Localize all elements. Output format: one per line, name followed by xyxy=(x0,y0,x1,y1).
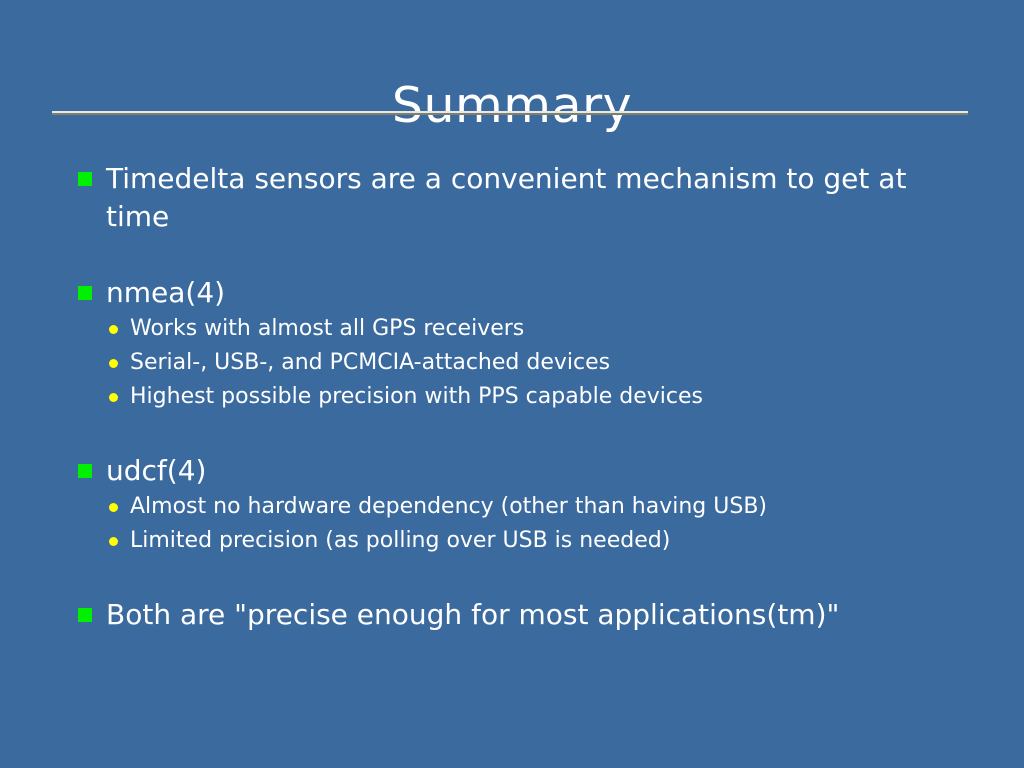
title-divider xyxy=(52,111,968,115)
square-bullet-icon xyxy=(78,608,92,622)
square-bullet-icon xyxy=(78,172,92,186)
bullet-level1: Timedelta sensors are a convenient mecha… xyxy=(0,160,1024,236)
bullet-block: nmea(4) Works with almost all GPS receiv… xyxy=(0,274,1024,414)
bullet-level2-label: Highest possible precision with PPS capa… xyxy=(130,380,1024,414)
dot-bullet-icon xyxy=(109,393,118,402)
bullet-level2-label: Works with almost all GPS receivers xyxy=(130,312,1024,346)
bullet-level2-label: Almost no hardware dependency (other tha… xyxy=(130,490,1024,524)
bullet-level2-label: Serial-, USB-, and PCMCIA-attached devic… xyxy=(130,346,1024,380)
page-title: Summary xyxy=(392,77,632,135)
bullet-level2: Limited precision (as polling over USB i… xyxy=(0,524,1024,558)
dot-bullet-icon xyxy=(109,503,118,512)
bullet-level2: Highest possible precision with PPS capa… xyxy=(0,380,1024,414)
bullet-block: Timedelta sensors are a convenient mecha… xyxy=(0,160,1024,236)
dot-bullet-icon xyxy=(109,359,118,368)
bullet-level1-label: Both are "precise enough for most applic… xyxy=(106,596,942,634)
slide-body: Timedelta sensors are a convenient mecha… xyxy=(0,160,1024,634)
bullet-level1-label: Timedelta sensors are a convenient mecha… xyxy=(106,160,942,236)
bullet-level2: Serial-, USB-, and PCMCIA-attached devic… xyxy=(0,346,1024,380)
square-bullet-icon xyxy=(78,464,92,478)
bullet-block: Both are "precise enough for most applic… xyxy=(0,596,1024,634)
bullet-level2: Almost no hardware dependency (other tha… xyxy=(0,490,1024,524)
spacer xyxy=(0,558,1024,596)
bullet-level2: Works with almost all GPS receivers xyxy=(0,312,1024,346)
bullet-level1: udcf(4) xyxy=(0,452,1024,490)
title-area: Summary xyxy=(0,44,1024,168)
bullet-level1-label: udcf(4) xyxy=(106,452,942,490)
spacer xyxy=(0,236,1024,274)
divider-shadow-line xyxy=(52,113,968,115)
dot-bullet-icon xyxy=(109,325,118,334)
square-bullet-icon xyxy=(78,286,92,300)
bullet-level2-label: Limited precision (as polling over USB i… xyxy=(130,524,1024,558)
bullet-level1: Both are "precise enough for most applic… xyxy=(0,596,1024,634)
bullet-level1: nmea(4) xyxy=(0,274,1024,312)
dot-bullet-icon xyxy=(109,537,118,546)
bullet-block: udcf(4) Almost no hardware dependency (o… xyxy=(0,452,1024,558)
spacer xyxy=(0,414,1024,452)
presentation-slide: Summary Timedelta sensors are a convenie… xyxy=(0,0,1024,768)
bullet-level1-label: nmea(4) xyxy=(106,274,942,312)
